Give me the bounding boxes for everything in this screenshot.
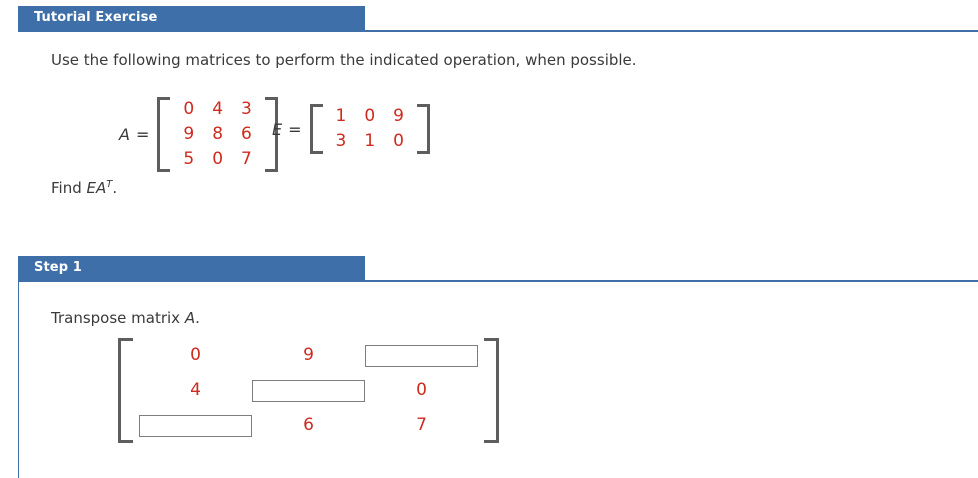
instruction-suffix: .: [195, 309, 200, 327]
answer-value: 4: [190, 382, 201, 399]
matrix-a-expression: A= 0 4 3 9 8 6 5 0 7: [119, 93, 278, 176]
answer-cell-r1c2: 9: [252, 338, 365, 373]
answer-cell-r3c2: 6: [252, 408, 365, 443]
right-bracket-icon: [484, 338, 499, 443]
matrix-cell: 0: [384, 129, 413, 154]
answer-value: 9: [303, 347, 314, 364]
answer-cell-r1c3: [365, 338, 478, 373]
matrix-cell: 9: [384, 104, 413, 129]
answer-value: 0: [416, 382, 427, 399]
tutorial-exercise-section: Tutorial Exercise Use the following matr…: [0, 0, 978, 240]
step-1-section: Step 1 Transpose matrix A. 0 9: [0, 240, 978, 478]
matrix-a-grid: 0 4 3 9 8 6 5 0 7: [174, 97, 260, 172]
matrix-a-brackets: 0 4 3 9 8 6 5 0 7: [157, 93, 277, 176]
matrix-cell: 0: [174, 97, 203, 122]
step-1-header-rule: [365, 280, 978, 282]
matrix-cell: 1: [327, 104, 356, 129]
answer-matrix-brackets: 0 9 4 0: [118, 335, 499, 446]
answer-value: 6: [303, 417, 314, 434]
left-bracket-icon: [310, 104, 323, 154]
tutorial-exercise-header-rule: [365, 30, 978, 32]
matrix-cell: 3: [327, 129, 356, 154]
answer-cell-r1c1: 0: [139, 338, 252, 373]
tutorial-exercise-header: Tutorial Exercise: [18, 6, 978, 32]
matrix-a-label: A=: [119, 125, 149, 144]
instruction-variable: A: [185, 309, 195, 327]
step-1-header: Step 1: [18, 256, 978, 282]
answer-matrix-grid: 0 9 4 0: [139, 338, 478, 443]
answer-input-r1c3[interactable]: [365, 345, 478, 367]
answer-cell-r3c1: [139, 408, 252, 443]
question-expression: EA: [87, 179, 107, 197]
matrix-e-brackets: 1 0 9 3 1 0: [310, 100, 430, 158]
left-bracket-icon: [157, 97, 170, 172]
left-bracket-icon: [118, 338, 133, 443]
tutorial-exercise-title: Tutorial Exercise: [34, 10, 157, 25]
answer-input-r2c2[interactable]: [252, 380, 365, 402]
matrix-cell: 1: [355, 129, 384, 154]
matrix-cell: 4: [203, 97, 232, 122]
transpose-answer-matrix: 0 9 4 0: [118, 335, 499, 446]
answer-cell-r2c2: [252, 373, 365, 408]
step-1-instruction: Transpose matrix A.: [51, 309, 200, 327]
matrix-cell: 8: [203, 122, 232, 147]
step-1-left-rail: [18, 282, 19, 478]
answer-cell-r2c1: 4: [139, 373, 252, 408]
question-suffix: .: [112, 179, 117, 197]
answer-value: 0: [190, 347, 201, 364]
matrix-cell: 7: [232, 147, 261, 172]
matrix-cell: 9: [174, 122, 203, 147]
question-prefix: Find: [51, 179, 87, 197]
matrix-cell: 3: [232, 97, 261, 122]
matrix-e-expression: E= 1 0 9 3 1 0: [272, 100, 430, 158]
instruction-prefix: Transpose matrix: [51, 309, 185, 327]
exercise-question: Find EAT.: [51, 179, 117, 197]
matrix-e-grid: 1 0 9 3 1 0: [327, 104, 413, 154]
answer-cell-r2c3: 0: [365, 373, 478, 408]
matrix-cell: 6: [232, 122, 261, 147]
matrix-cell: 0: [203, 147, 232, 172]
matrix-cell: 0: [355, 104, 384, 129]
answer-cell-r3c3: 7: [365, 408, 478, 443]
right-bracket-icon: [417, 104, 430, 154]
answer-input-r3c1[interactable]: [139, 415, 252, 437]
matrix-cell: 5: [174, 147, 203, 172]
exercise-prompt: Use the following matrices to perform th…: [51, 51, 637, 69]
step-1-title: Step 1: [34, 260, 82, 275]
matrix-e-label: E=: [272, 120, 302, 139]
answer-value: 7: [416, 417, 427, 434]
